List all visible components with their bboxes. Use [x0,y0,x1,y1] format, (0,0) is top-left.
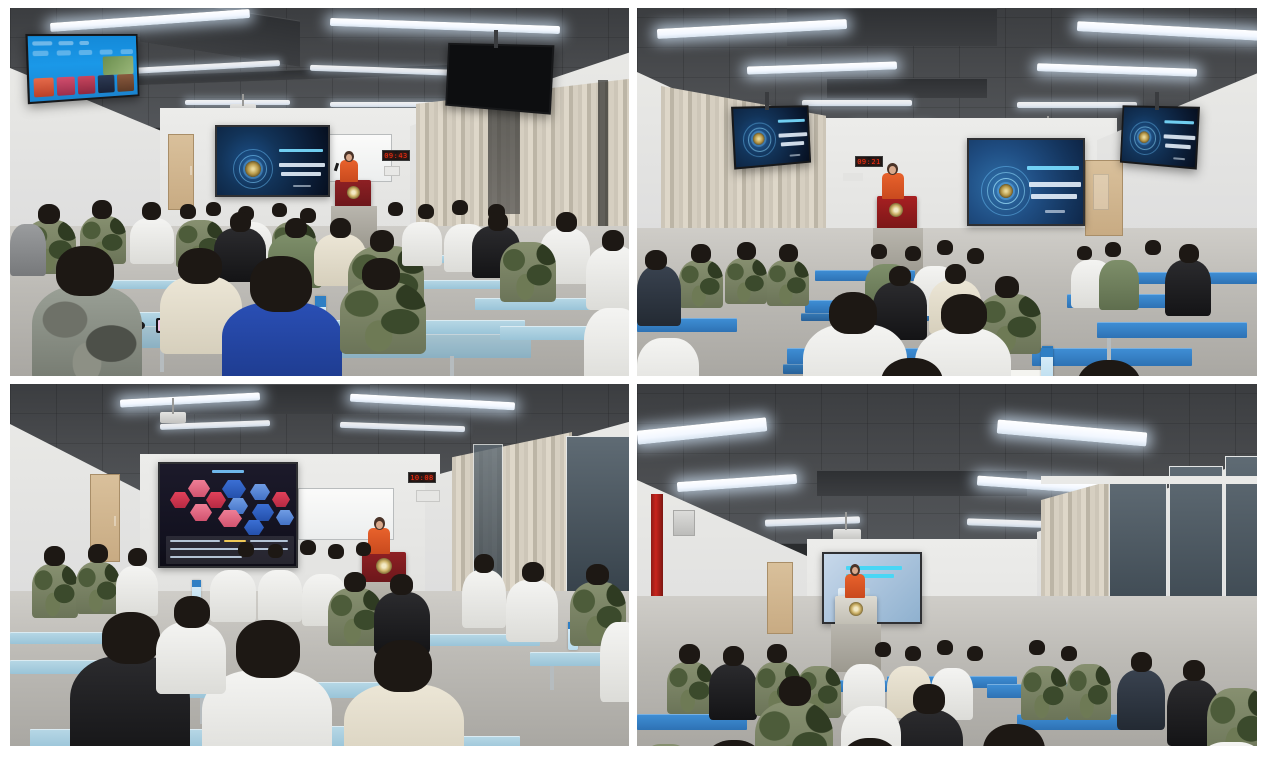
audience-head [44,546,65,566]
audience-head [272,203,287,217]
led-clock-value: 09:43 [384,152,408,160]
tv-thumbnail-row [34,74,134,98]
window-gap [598,80,608,240]
tv-hero-thumbnail [103,56,134,75]
desk-leg [1107,338,1111,362]
audience-torso [1207,688,1257,746]
audience-head [488,212,508,231]
hanging-tv-left[interactable] [731,105,811,169]
audience-head-front [941,294,987,334]
door-handle [114,516,116,526]
water-bottle [1041,348,1053,376]
photo-collage: 09:43 [0,0,1267,760]
audience-torso [637,266,681,326]
podium-seal [347,186,360,199]
desk [1097,322,1247,338]
audience-head [38,204,60,224]
audience-head [586,564,609,585]
projection-screen[interactable] [967,138,1085,226]
led-clock-display: 09:21 [855,156,883,167]
tv-thumbnail[interactable] [34,77,54,98]
audience-head [285,218,307,238]
audience-head [767,644,787,663]
audience-torso [130,218,174,264]
audience-head [779,244,798,262]
desk-leg [550,666,554,690]
audience-head [1145,240,1161,255]
speaker-face [852,567,858,574]
audience-head-front [250,256,312,312]
ceiling-light [1017,102,1137,108]
door [767,562,793,634]
audience-head [238,542,254,557]
audience-torso [10,224,46,276]
audience-head-front [102,612,160,664]
audience-head [679,644,700,664]
audience-torso [500,242,556,302]
podium-seal [889,203,903,217]
audience-head [967,248,984,264]
audience-head [128,548,147,566]
slide-emblem [245,161,261,177]
tv-mount [765,92,769,110]
photo-panel-bottom-right[interactable] [637,384,1257,746]
audience-head [92,200,112,219]
projector-rod [242,94,244,106]
audience-torso-front [584,308,629,376]
audience-torso-front [32,286,142,376]
audience-torso [1067,664,1111,720]
audience-head [945,264,966,284]
audience-head [356,542,371,556]
tv-thumbnail[interactable] [56,76,75,96]
tv-thumbnail[interactable] [78,75,96,95]
audience-torso [725,258,767,304]
audience-torso [679,260,723,308]
tv-mount [494,30,498,48]
audience-head [1029,640,1045,655]
slide-title [212,470,244,473]
audience-torso [1021,666,1067,720]
audience-torso [667,662,713,714]
led-clock-value: 10:08 [410,474,434,482]
audience-torso [402,222,442,266]
audience-head [180,204,196,219]
notebook [1009,370,1045,376]
window-header [1041,476,1257,484]
podium-seal [376,558,392,574]
audience-head [602,230,624,251]
audience-torso [1117,670,1165,730]
audience-head [388,202,403,216]
audience-head [937,640,953,655]
audience-head [875,642,891,657]
tv-video-app [28,36,138,102]
audience-head [723,646,744,666]
wall-panel [416,490,440,502]
speaker-face [376,521,383,529]
audience-head [1061,646,1077,661]
audience-head [937,240,953,255]
audience-head [691,244,711,263]
audience-torso-front [344,684,464,746]
photo-panel-bottom-left[interactable]: 10:08 [10,384,629,746]
projector-rod [845,512,847,530]
hanging-tv-right[interactable] [1120,105,1200,169]
audience-torso [462,570,506,628]
wall-panel [384,166,400,176]
audience-head-front [178,248,222,284]
speaker-torso [340,160,358,182]
audience-head [779,676,811,706]
audience-head [905,646,921,661]
audience-head [230,212,251,232]
hanging-tv-right[interactable] [445,43,554,115]
audience-torso-front [156,622,226,694]
audience-head [645,250,667,270]
audience-head [418,204,434,219]
audience-head [1183,660,1205,681]
audience-head [522,562,544,582]
speaker-torso [845,574,865,598]
podium-seal [849,602,863,616]
audience-torso [258,570,302,622]
audience-head [967,646,983,661]
tv-thumbnail[interactable] [117,74,134,93]
audience-torso [586,246,629,310]
audience-head-front [829,292,877,334]
tv-mount [1155,92,1159,110]
audience-head [142,202,161,220]
audience-head [1105,242,1121,257]
audience-torso [600,622,629,702]
wall-box [673,510,695,536]
audience-torso [76,562,120,614]
audience-head [737,242,756,260]
tv-thumbnail[interactable] [98,74,115,93]
audience-head [206,202,221,216]
speaker-face [346,154,352,161]
audience-torso [210,570,256,622]
wall-tv-left[interactable] [25,34,139,104]
projector-rod [172,398,174,414]
audience-torso [1099,260,1139,310]
audience-torso [755,702,833,746]
audience-head [871,244,887,259]
desk-leg [450,356,454,376]
speaker-torso [882,173,904,199]
audience-head [1131,652,1152,672]
speaker-torso [368,528,390,554]
wall-panel [843,173,863,181]
audience-head [556,212,577,232]
audience-head [88,544,108,563]
photo-panel-top-left[interactable]: 09:43 [10,8,629,376]
audience-head [889,266,911,286]
photo-panel-top-right[interactable]: 09:21 [637,8,1257,376]
door-handle [190,166,192,175]
audience-head [913,684,945,714]
audience-head [328,544,344,559]
audience-head-front [374,640,432,692]
audience-head [1179,244,1199,263]
audience-torso [116,566,158,616]
led-clock-value: 09:21 [857,158,881,166]
audience-head-front [362,258,400,290]
door-window [1093,174,1109,210]
audience-head [370,230,394,252]
audience-head [390,574,413,595]
audience-head [1077,246,1092,260]
speaker-face [889,166,896,174]
audience-head [330,218,351,238]
audience-head [995,276,1019,298]
slide-emblem [999,184,1013,198]
audience-head [474,554,494,573]
audience-head [344,572,366,592]
audience-head [905,246,921,261]
audience-head [300,540,316,555]
audience-torso [709,664,757,720]
audience-head [268,544,283,558]
audience-head-front [236,620,300,678]
audience-torso [1165,260,1211,316]
ceiling-light [802,100,912,106]
led-clock-display: 10:08 [408,472,436,483]
audience-head-front [56,246,114,296]
window-gap [488,104,520,214]
audience-head [452,200,468,215]
led-clock-display: 09:43 [382,150,410,161]
audience-torso-front [222,302,342,376]
audience-torso [506,580,558,642]
audience-torso-front [637,338,699,376]
projection-screen[interactable] [215,125,330,197]
audience-torso [767,260,809,306]
audience-head-front [174,596,210,628]
audience-torso [32,564,78,618]
ceiling-duct [827,78,987,98]
audience-torso-front [340,282,426,354]
